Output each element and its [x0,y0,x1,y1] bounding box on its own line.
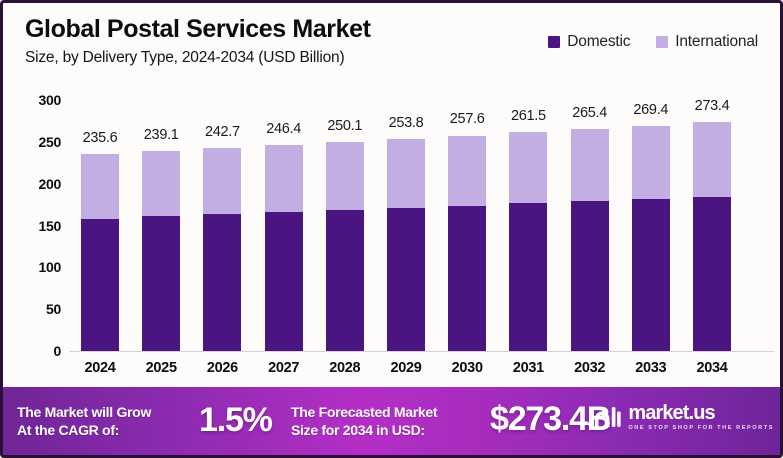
bar-segment-international[interactable] [326,142,364,210]
cagr-caption-line1: The Market will Grow [17,404,151,422]
x-axis-label: 2031 [513,360,544,376]
bar-segment-domestic[interactable] [81,219,119,351]
bar-total-label: 246.4 [266,121,301,137]
x-axis-label: 2029 [390,360,421,376]
x-axis-label: 2024 [84,360,115,376]
brand-tagline: ONE STOP SHOP FOR THE REPORTS [628,426,774,432]
bar-segment-international[interactable] [448,136,486,206]
x-axis-label: 2027 [268,360,299,376]
bar-column[interactable]: 250.12028 [326,142,364,351]
chart-subtitle: Size, by Delivery Type, 2024-2034 (USD B… [25,49,344,67]
x-axis-label: 2030 [452,360,483,376]
bar-total-label: 253.8 [389,115,424,131]
x-axis-label: 2025 [146,360,177,376]
bar-segment-international[interactable] [265,145,303,212]
market-report-chart-card: Global Postal Services Market Size, by D… [0,0,783,458]
bar-segment-domestic[interactable] [448,206,486,351]
bar-total-label: 257.6 [450,111,485,127]
cagr-caption-line2: At the CAGR of: [17,422,151,440]
bar-column[interactable]: 246.42027 [265,145,303,351]
bar-total-label: 250.1 [327,118,362,134]
x-axis-label: 2034 [696,360,727,376]
forecast-caption: The Forecasted Market Size for 2034 in U… [291,404,437,439]
bar-column[interactable]: 265.42032 [571,129,609,351]
bar-segment-international[interactable] [142,151,180,216]
bar-segment-domestic[interactable] [387,208,425,351]
bar-segment-domestic[interactable] [265,212,303,351]
x-axis-label: 2026 [207,360,238,376]
chart-legend: Domestic International [548,33,758,51]
brand-logo[interactable]: market.us ONE STOP SHOP FOR THE REPORTS [587,403,774,432]
bar-segment-domestic[interactable] [142,216,180,351]
bar-total-label: 261.5 [511,108,546,124]
bar-segment-domestic[interactable] [571,201,609,351]
bar-segment-domestic[interactable] [203,214,241,351]
chart-header: Global Postal Services Market Size, by D… [3,3,783,79]
bar-segment-international[interactable] [81,154,119,219]
cagr-caption: The Market will Grow At the CAGR of: [17,404,151,439]
page-title: Global Postal Services Market [25,15,371,44]
bar-segment-international[interactable] [571,129,609,201]
chart-plot-area: 050100150200250300 235.62024239.12025242… [3,79,783,388]
bar-segment-international[interactable] [693,122,731,196]
bar-segment-domestic[interactable] [509,203,547,351]
bar-segment-domestic[interactable] [693,197,731,351]
legend-label-domestic: Domestic [567,33,630,51]
summary-footer-bar: The Market will Grow At the CAGR of: 1.5… [3,387,783,455]
bar-column[interactable]: 273.42034 [693,122,731,351]
bar-total-label: 273.4 [695,98,730,114]
legend-label-international: International [675,33,758,51]
x-axis-label: 2032 [574,360,605,376]
forecast-caption-line1: The Forecasted Market [291,404,437,422]
brand-wordmark: market.us ONE STOP SHOP FOR THE REPORTS [628,403,774,432]
bar-segment-international[interactable] [509,132,547,203]
bar-segment-domestic[interactable] [632,199,670,351]
x-axis-label: 2033 [635,360,666,376]
market-us-logo-icon [587,404,621,430]
brand-name: market.us [628,403,774,423]
bar-column[interactable]: 253.82029 [387,139,425,351]
legend-swatch-domestic [548,36,560,48]
bar-total-label: 239.1 [144,127,179,143]
bar-total-label: 235.6 [83,130,118,146]
bar-segment-international[interactable] [632,126,670,199]
bar-segment-domestic[interactable] [326,210,364,351]
bar-total-label: 265.4 [572,105,607,121]
legend-item-domestic[interactable]: Domestic [548,33,630,51]
x-axis-label: 2028 [329,360,360,376]
legend-swatch-international [656,36,668,48]
bar-column[interactable]: 242.72026 [203,148,241,351]
bar-column[interactable]: 269.42033 [632,126,670,351]
bar-column[interactable]: 257.62030 [448,136,486,352]
bar-column[interactable]: 235.62024 [81,154,119,351]
cagr-value: 1.5% [199,401,272,440]
bar-segment-international[interactable] [387,139,425,208]
legend-item-international[interactable]: International [656,33,758,51]
bar-column[interactable]: 261.52031 [509,132,547,351]
bar-total-label: 242.7 [205,124,240,140]
bar-total-label: 269.4 [633,102,668,118]
forecast-caption-line2: Size for 2034 in USD: [291,422,437,440]
bar-column[interactable]: 239.12025 [142,151,180,351]
bar-segment-international[interactable] [203,148,241,214]
bar-series-container: 235.62024239.12025242.72026246.42027250.… [3,79,783,388]
